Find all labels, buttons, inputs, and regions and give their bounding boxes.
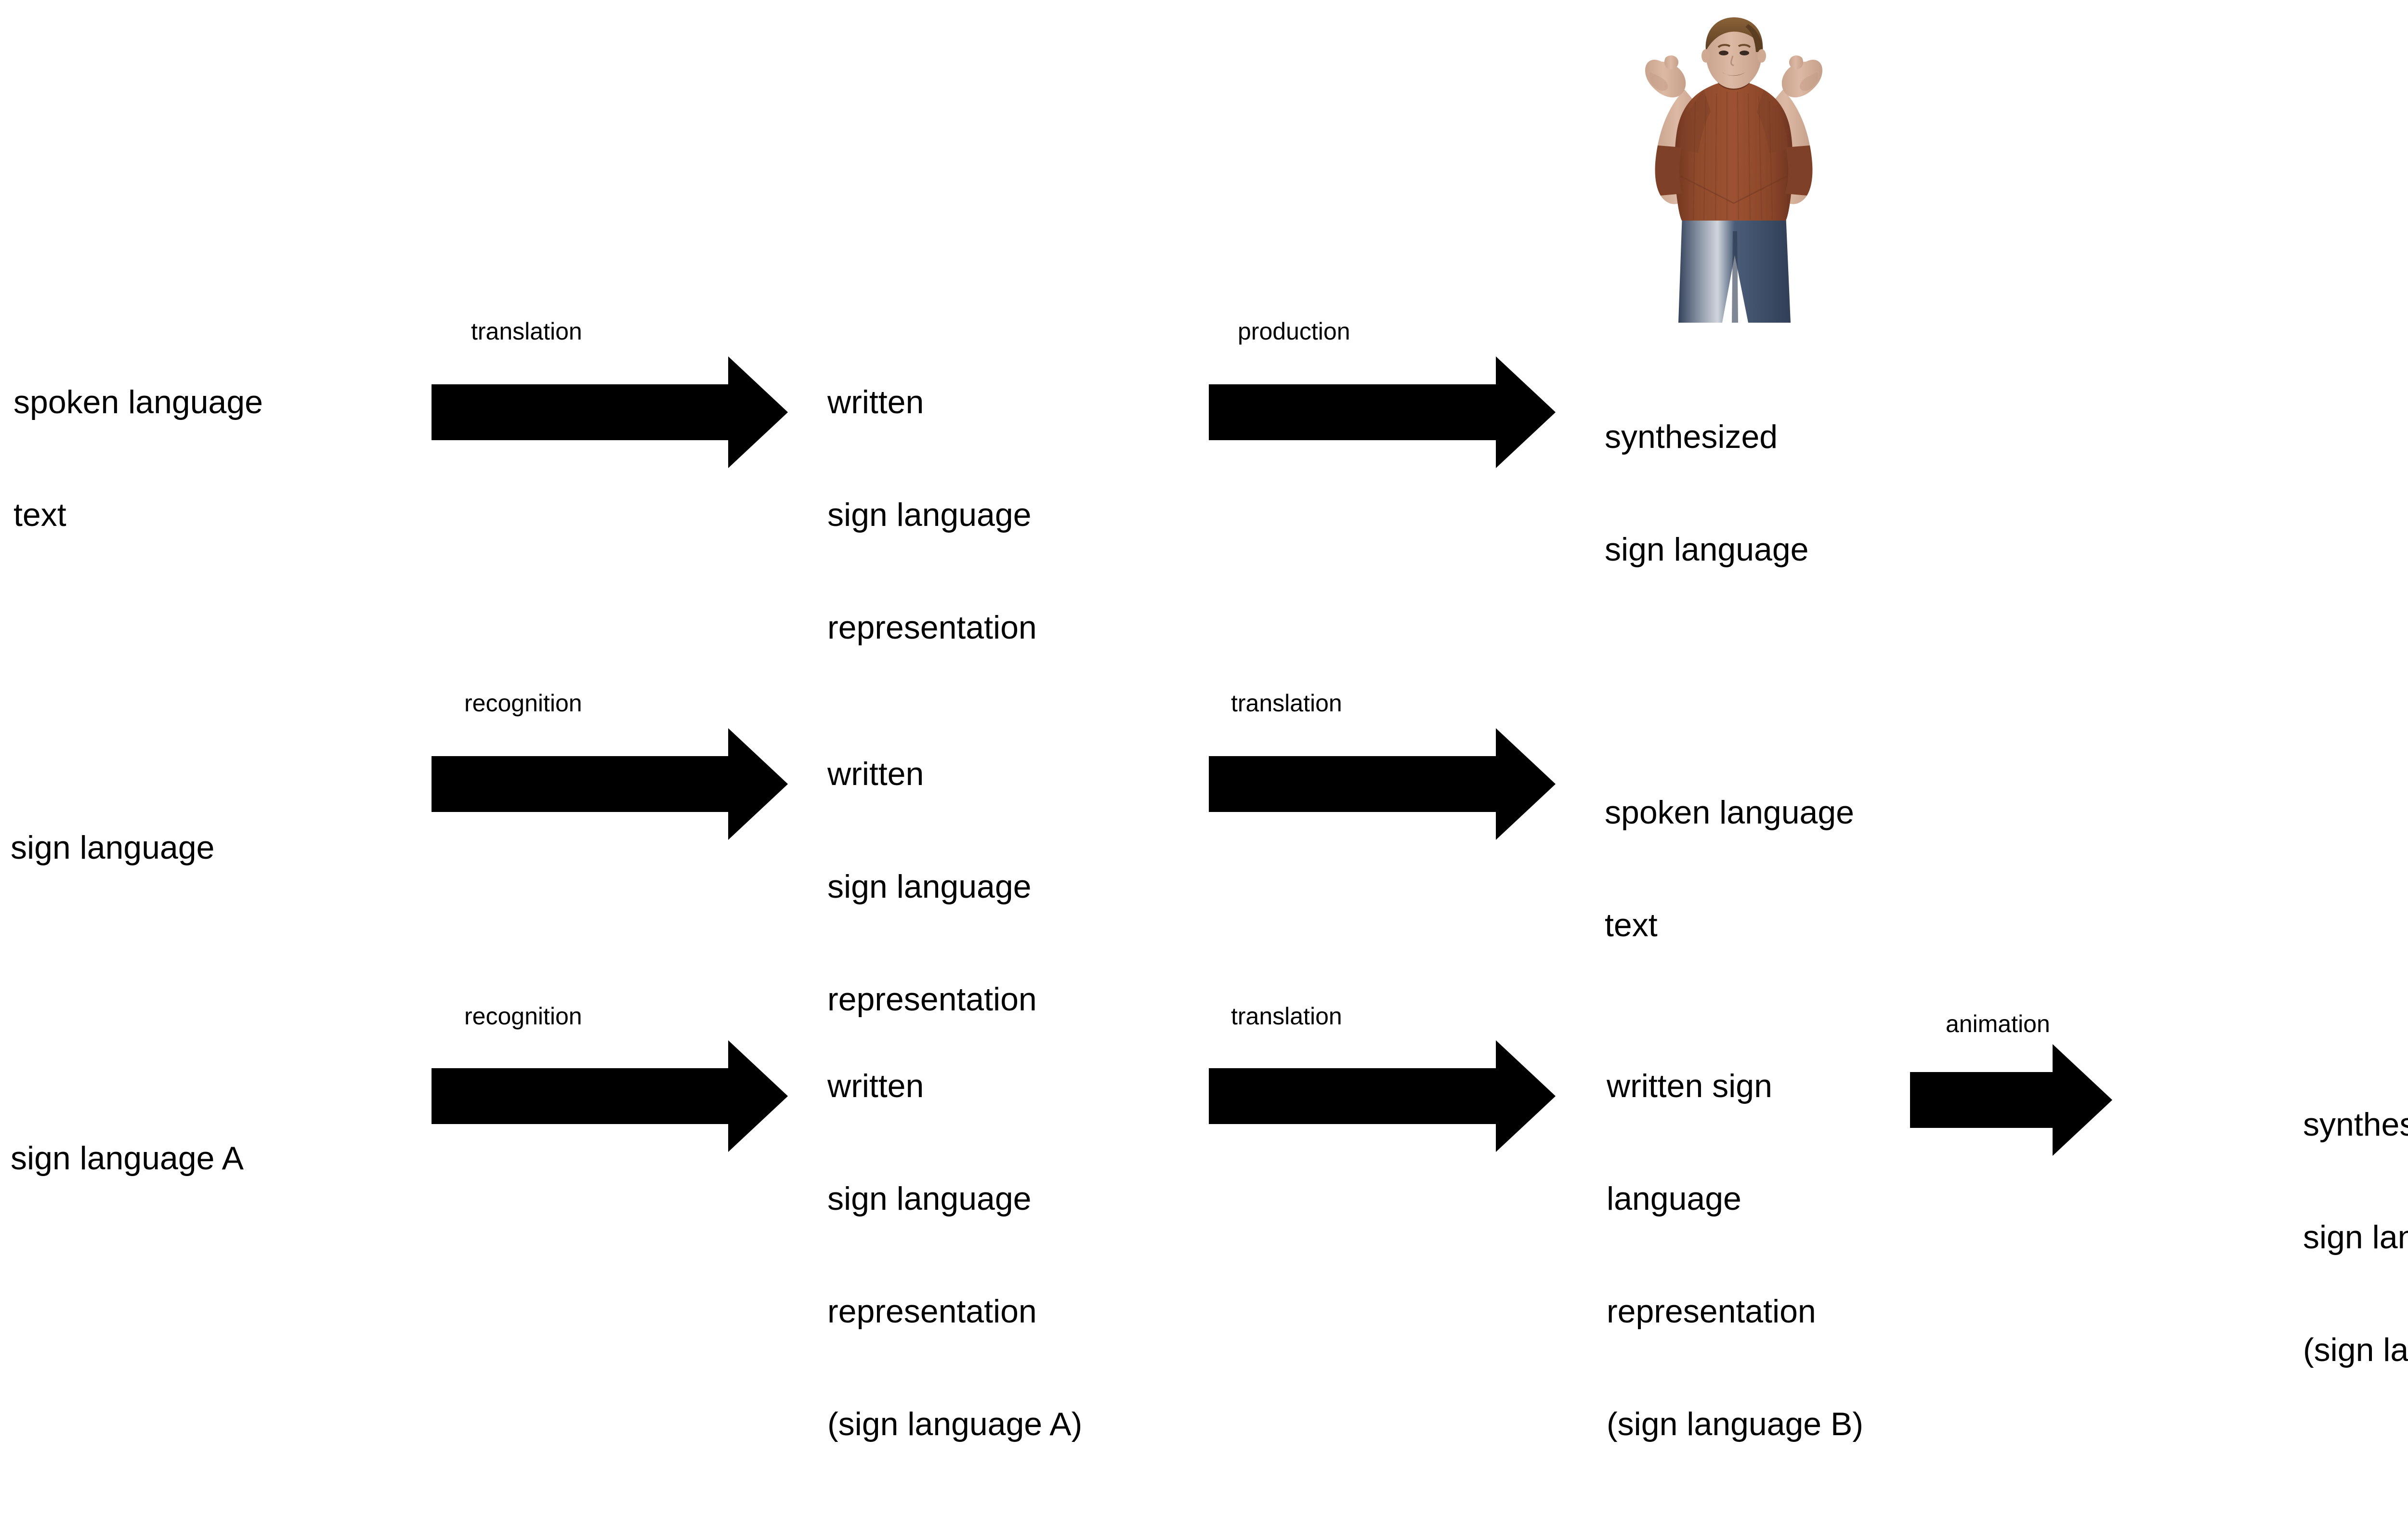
node-written-sign-language-representation-b: written sign language representation (si…	[1607, 992, 1863, 1518]
node-line: sign language	[827, 1180, 1082, 1217]
arrow-animation	[1910, 1044, 2112, 1156]
ear-right	[1757, 49, 1766, 63]
node-line: written	[827, 755, 1037, 793]
arrow-shape	[432, 356, 788, 468]
node-line: text	[13, 496, 263, 534]
node-written-sign-language-representation-1: written sign language representation	[827, 308, 1037, 721]
node-spoken-language-text-2: spoken language text	[1605, 719, 1854, 1019]
node-sign-language-a: sign language A	[11, 1064, 244, 1252]
edge-label-recognition-3: recognition	[464, 1003, 582, 1030]
arrow-translation-2	[1209, 728, 1556, 840]
node-spoken-language-text: spoken language text	[13, 308, 263, 609]
edge-label-animation: animation	[1946, 1010, 2050, 1037]
ear-left	[1701, 49, 1710, 63]
arrow-production	[1209, 356, 1556, 468]
arrow-shape	[1209, 728, 1556, 840]
node-line: sign language	[827, 496, 1037, 534]
hand-right	[1782, 55, 1822, 97]
arrow-shape	[1209, 1040, 1556, 1152]
node-line: sign language A	[11, 1139, 244, 1177]
node-line: spoken language	[1605, 794, 1854, 831]
node-line: written	[827, 1067, 1082, 1105]
signing-avatar	[1604, 5, 1864, 323]
edge-label-recognition-2: recognition	[464, 690, 582, 717]
node-line: sign language	[1605, 531, 1808, 568]
node-line: synthesized	[1605, 418, 1808, 456]
arrow-translation-3	[1209, 1040, 1556, 1152]
arrow-shape	[1910, 1044, 2112, 1156]
eye-right	[1740, 51, 1749, 55]
node-line: representation	[1607, 1293, 1863, 1330]
node-synthesized-sign-language-1: synthesized sign language	[1605, 343, 1808, 643]
arrow-shape	[432, 728, 788, 840]
node-line: (sign language A)	[827, 1405, 1082, 1443]
eye-left	[1719, 51, 1728, 55]
edge-label-translation-2: translation	[1231, 690, 1342, 717]
node-line: written sign	[1607, 1067, 1863, 1105]
arrow-recognition-2	[432, 728, 788, 840]
arrow-recognition-3	[432, 1040, 788, 1152]
node-line: representation	[827, 1293, 1082, 1330]
avatar-illustration	[1604, 5, 1864, 323]
edge-label-translation-1: translation	[471, 318, 582, 345]
node-line: sign language	[11, 829, 214, 866]
cuff-right	[1785, 145, 1812, 196]
node-line: sign language	[2303, 1218, 2408, 1256]
node-sign-language-2: sign language	[11, 754, 214, 942]
edge-label-production: production	[1238, 318, 1350, 345]
node-line: representation	[827, 609, 1037, 646]
node-line: text	[1605, 906, 1854, 944]
arrow-shape	[1209, 356, 1556, 468]
arrow-shape	[432, 1040, 788, 1152]
node-line: sign language	[827, 868, 1037, 905]
node-synthesized-sign-language-b: synthesized sign language (sign language…	[2303, 1031, 2408, 1444]
node-written-sign-language-representation-a: written sign language representation (si…	[827, 992, 1082, 1518]
node-line: synthesized	[2303, 1106, 2408, 1143]
arrow-translation-1	[432, 356, 788, 468]
node-line: language	[1607, 1180, 1863, 1217]
cuff-left	[1655, 145, 1683, 196]
diagram-canvas: spoken language text translation written…	[0, 0, 2408, 1301]
node-line: (sign language B)	[2303, 1331, 2408, 1369]
edge-label-translation-3: translation	[1231, 1003, 1342, 1030]
node-line: spoken language	[13, 383, 263, 421]
hand-left	[1645, 55, 1686, 97]
node-line: (sign language B)	[1607, 1405, 1863, 1443]
node-line: written	[827, 383, 1037, 421]
